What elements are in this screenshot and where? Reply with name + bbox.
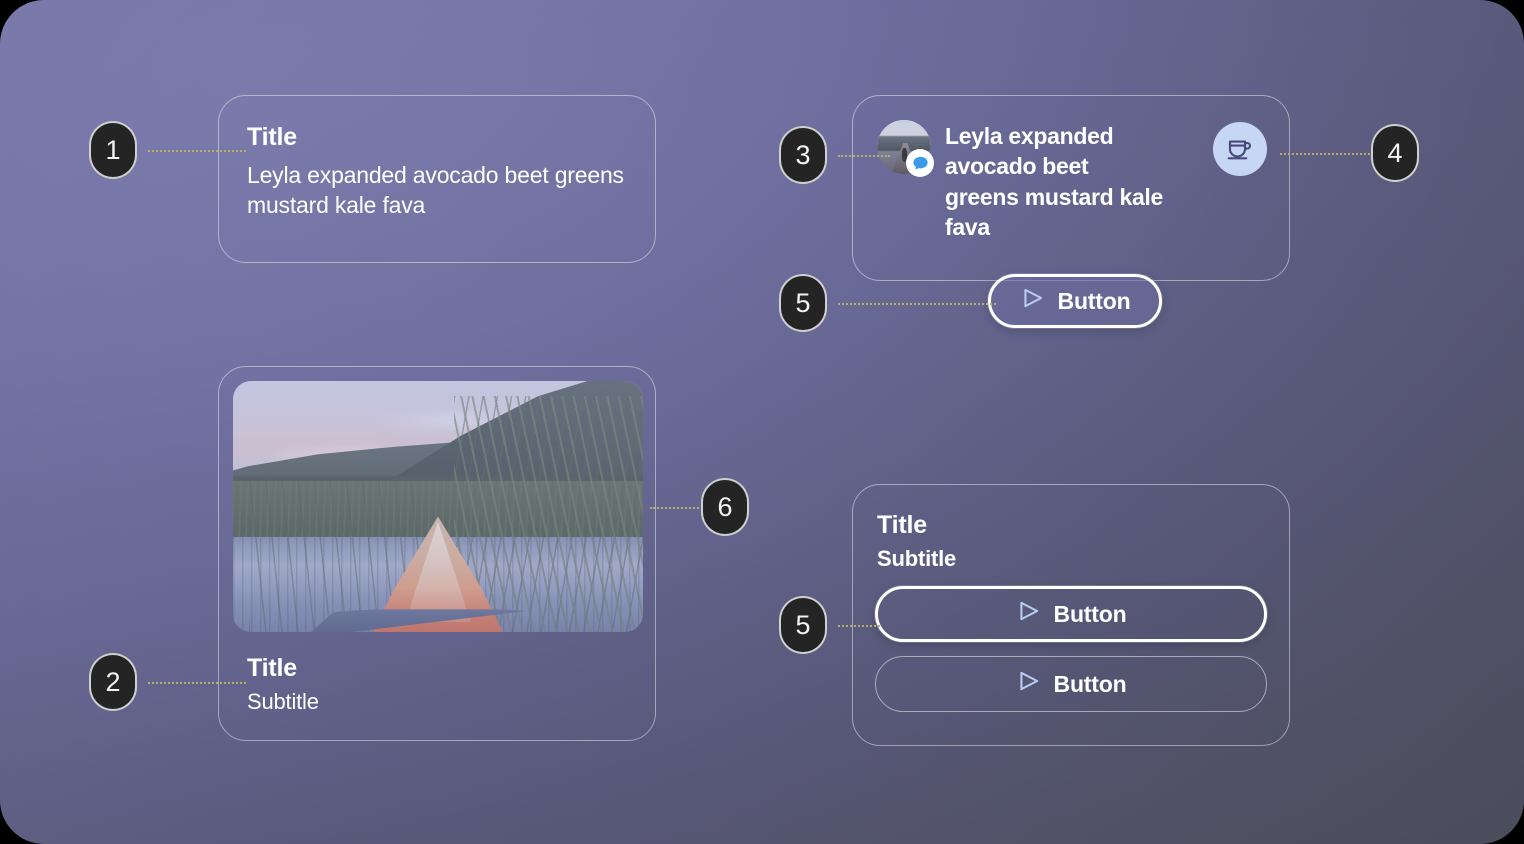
annotation-badge-5a[interactable]: 5 <box>779 274 827 332</box>
annotation-badge-1[interactable]: 1 <box>89 121 137 179</box>
media-card-subtitle: Subtitle <box>247 689 641 715</box>
annotation-badge-3[interactable]: 3 <box>779 126 827 184</box>
chat-bubble-icon <box>906 149 934 177</box>
annotation-badge-5b-number: 5 <box>795 610 810 641</box>
annotation-badge-2-number: 2 <box>105 667 120 698</box>
profile-card-button-label: Button <box>1058 288 1131 315</box>
annotation-badge-4-number: 4 <box>1387 138 1402 169</box>
annotated-ui-canvas: Title Leyla expanded avocado beet greens… <box>0 0 1524 844</box>
connector-line-2 <box>148 682 246 684</box>
actions-card-button-secondary[interactable]: Button <box>875 656 1267 712</box>
actions-card-button-primary-label: Button <box>1054 601 1127 628</box>
actions-card-subtitle: Subtitle <box>877 546 1267 572</box>
text-card-title: Title <box>247 124 627 152</box>
annotation-badge-2[interactable]: 2 <box>89 653 137 711</box>
coffee-cup-icon[interactable] <box>1213 122 1267 176</box>
lake-kayak-photo <box>233 381 643 632</box>
annotation-badge-5a-number: 5 <box>795 288 810 319</box>
annotation-badge-1-number: 1 <box>105 135 120 166</box>
media-card-image[interactable] <box>233 381 643 632</box>
profile-card-button[interactable]: Button <box>988 274 1162 328</box>
annotation-badge-5b[interactable]: 5 <box>779 596 827 654</box>
send-triangle-icon <box>1020 285 1046 317</box>
annotation-badge-6[interactable]: 6 <box>701 478 749 536</box>
media-card[interactable]: Title Subtitle <box>218 366 656 741</box>
actions-card-button-primary[interactable]: Button <box>875 586 1267 642</box>
actions-card-button-secondary-label: Button <box>1054 671 1127 698</box>
profile-card[interactable]: Leyla expanded avocado beet greens musta… <box>852 95 1290 281</box>
send-triangle-icon <box>1016 668 1042 700</box>
actions-card-title: Title <box>877 511 1267 540</box>
annotation-badge-3-number: 3 <box>795 140 810 171</box>
annotation-badge-4[interactable]: 4 <box>1371 124 1419 182</box>
connector-line-5b <box>838 625 880 627</box>
send-triangle-icon <box>1016 598 1042 630</box>
connector-line-3 <box>838 155 890 157</box>
text-card[interactable]: Title Leyla expanded avocado beet greens… <box>218 95 656 263</box>
connector-line-5a <box>838 303 996 305</box>
connector-line-4 <box>1280 153 1370 155</box>
profile-card-text: Leyla expanded avocado beet greens musta… <box>945 120 1163 242</box>
media-card-title: Title <box>247 654 641 683</box>
text-card-body: Leyla expanded avocado beet greens musta… <box>247 160 627 221</box>
annotation-badge-6-number: 6 <box>717 492 732 523</box>
connector-line-1 <box>148 150 246 152</box>
actions-card[interactable]: Title Subtitle Button Button <box>852 484 1290 746</box>
profile-card-avatar[interactable] <box>877 120 931 174</box>
